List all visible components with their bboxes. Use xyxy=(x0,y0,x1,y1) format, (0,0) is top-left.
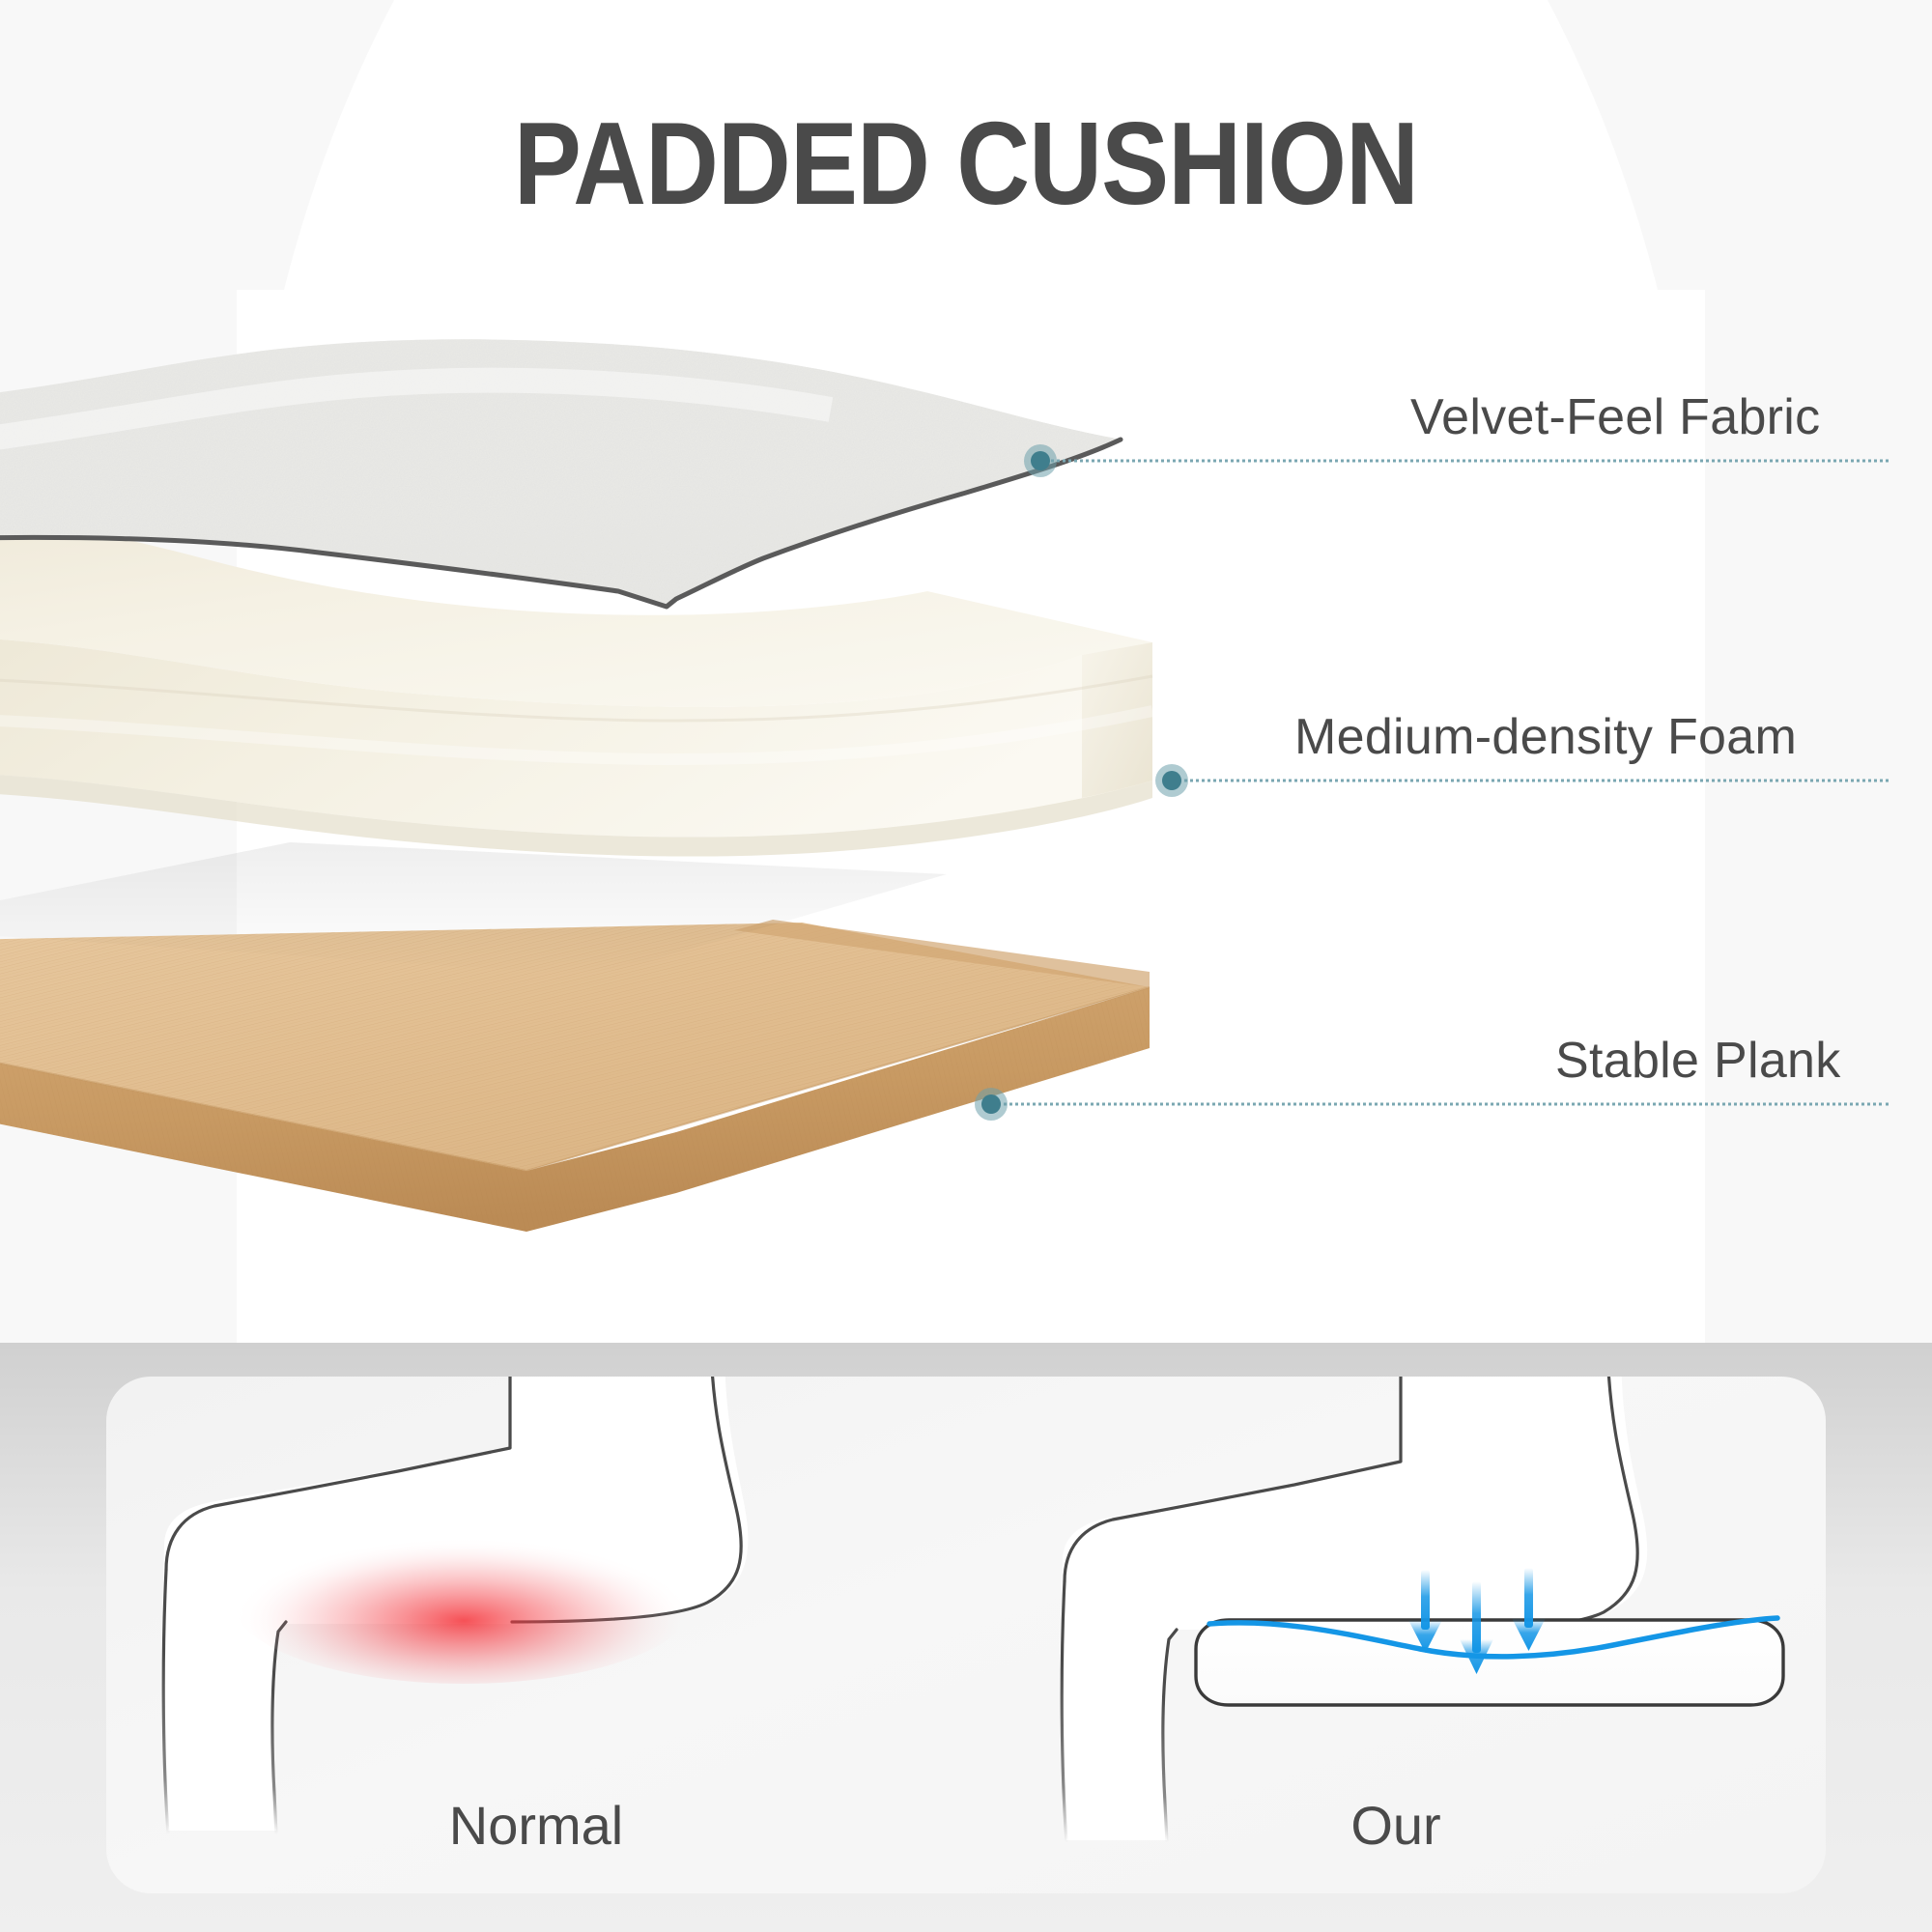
callout-dot-velvet-feel-fabric[interactable] xyxy=(1024,444,1057,477)
comparison-section: Normal xyxy=(0,1343,1932,1932)
body-silhouette-our xyxy=(1062,1377,1647,1842)
comparison-card: Normal xyxy=(106,1377,1826,1893)
comparison-normal: Normal xyxy=(106,1377,966,1893)
comparison-label-our: Our xyxy=(966,1794,1826,1857)
pressure-glow xyxy=(232,1518,696,1684)
exploded-product-illustration xyxy=(0,0,1932,1343)
callout-line-medium-density-foam xyxy=(1172,780,1889,782)
comparison-our: Our xyxy=(966,1377,1826,1893)
callout-line-stable-plank xyxy=(991,1103,1889,1106)
callout-label-velvet-feel-fabric: Velvet-Feel Fabric xyxy=(1410,388,1820,446)
callout-dot-medium-density-foam[interactable] xyxy=(1155,764,1188,797)
hero-section: PADDED CUSHION xyxy=(0,0,1932,1343)
callout-label-stable-plank: Stable Plank xyxy=(1555,1032,1841,1090)
callout-line-velvet-feel-fabric xyxy=(1040,460,1889,463)
soft-cushion-shape xyxy=(1196,1620,1783,1705)
comparison-label-normal: Normal xyxy=(106,1794,966,1857)
callout-dot-stable-plank[interactable] xyxy=(975,1088,1008,1121)
callout-label-medium-density-foam: Medium-density Foam xyxy=(1294,708,1797,766)
